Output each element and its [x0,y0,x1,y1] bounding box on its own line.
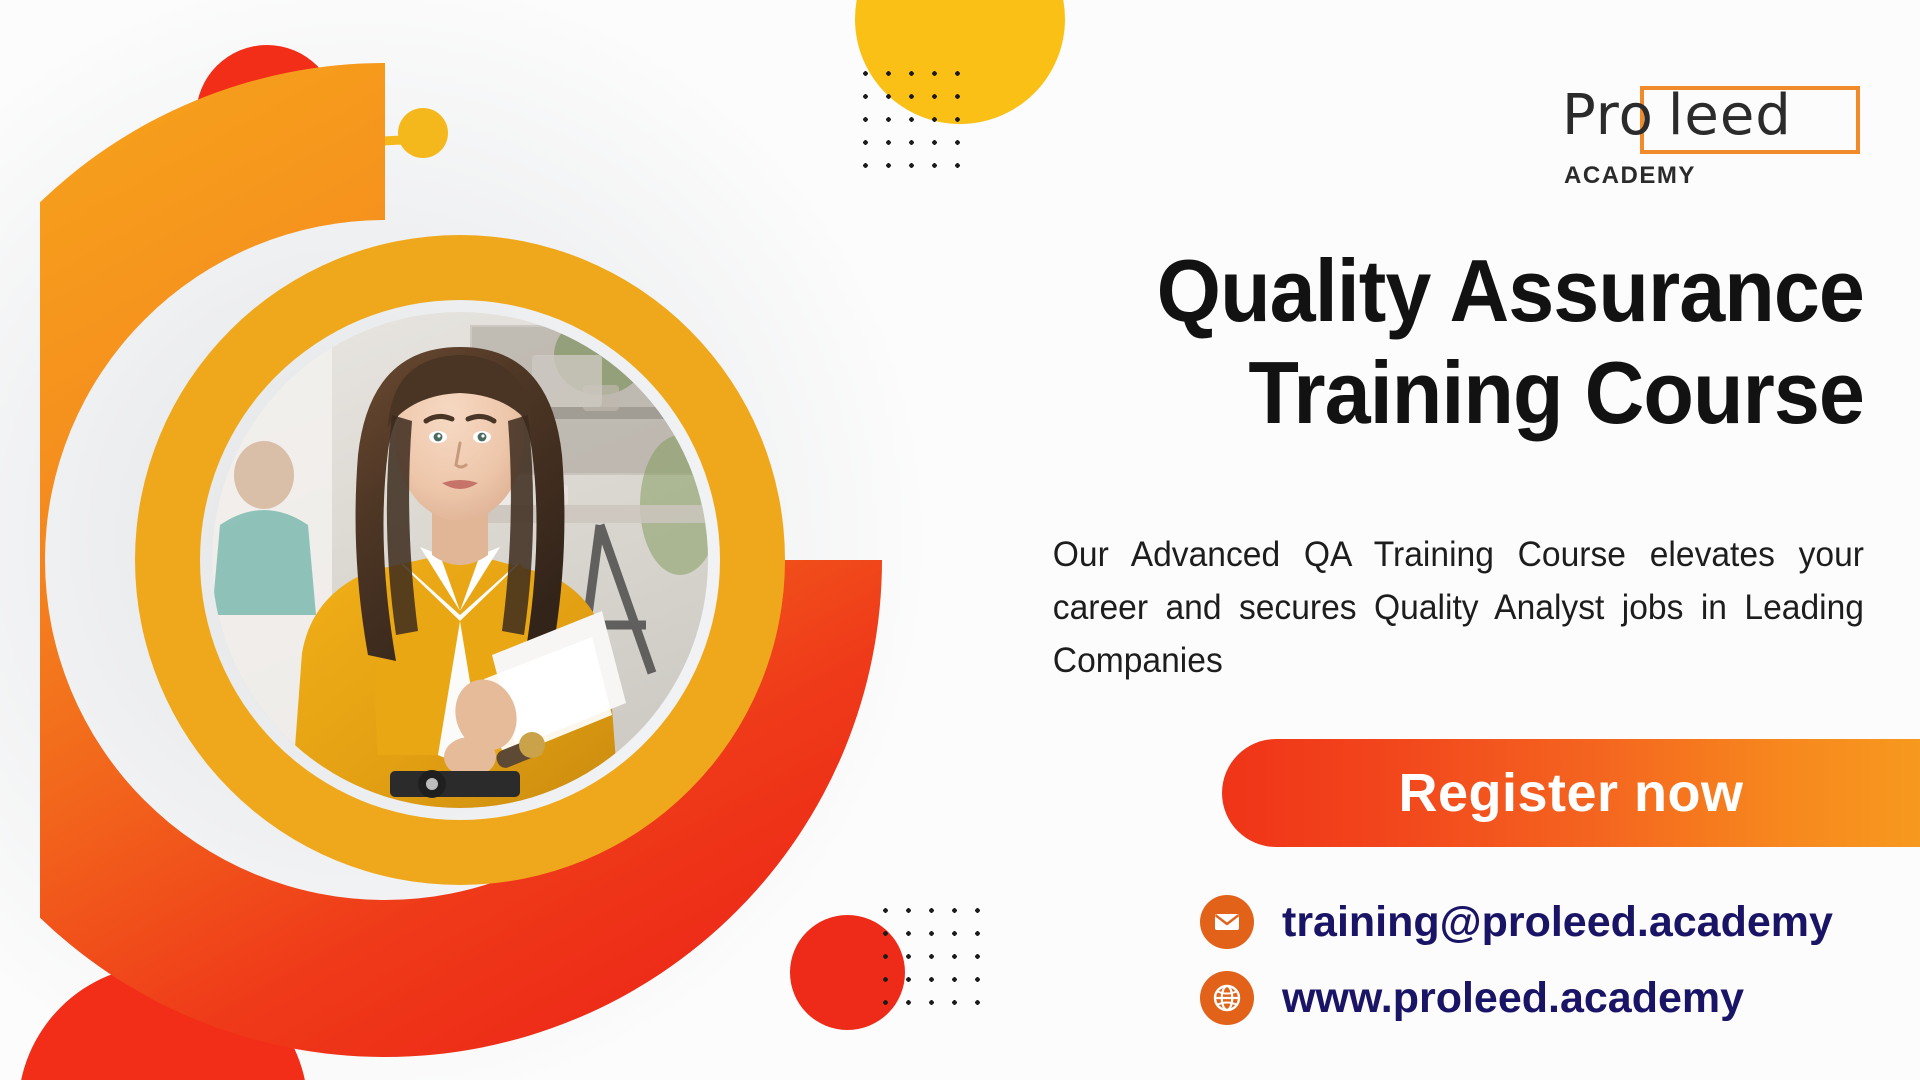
hero-ring-graphic [40,55,980,1065]
logo-wordmark: Proleed [1562,88,1792,144]
brand-logo[interactable]: Proleed ACADEMY [1562,82,1862,192]
register-now-label: Register now [1398,762,1743,824]
logo-word-leed: leed [1668,83,1792,148]
headline-line-2: Training Course [985,342,1864,444]
contact-info: training@proleed.academy www.proleed.aca… [1200,895,1920,1047]
promo-banner: Proleed ACADEMY Quality Assurance Traini… [0,0,1920,1080]
contact-email-value: training@proleed.academy [1282,898,1833,947]
description-text: Our Advanced QA Training Course elevates… [1053,528,1864,688]
logo-subtitle: ACADEMY [1564,162,1696,190]
globe-icon [1200,971,1254,1025]
contact-row-email[interactable]: training@proleed.academy [1200,895,1920,949]
envelope-icon [1200,895,1254,949]
contact-website-value: www.proleed.academy [1282,974,1744,1023]
page-title: Quality Assurance Training Course [985,240,1864,444]
contact-row-website[interactable]: www.proleed.academy [1200,971,1920,1025]
register-now-button[interactable]: Register now [1222,739,1920,847]
headline-line-1: Quality Assurance [1157,241,1864,340]
logo-word-pro: Pro [1562,83,1654,148]
instructor-photo [212,312,720,815]
